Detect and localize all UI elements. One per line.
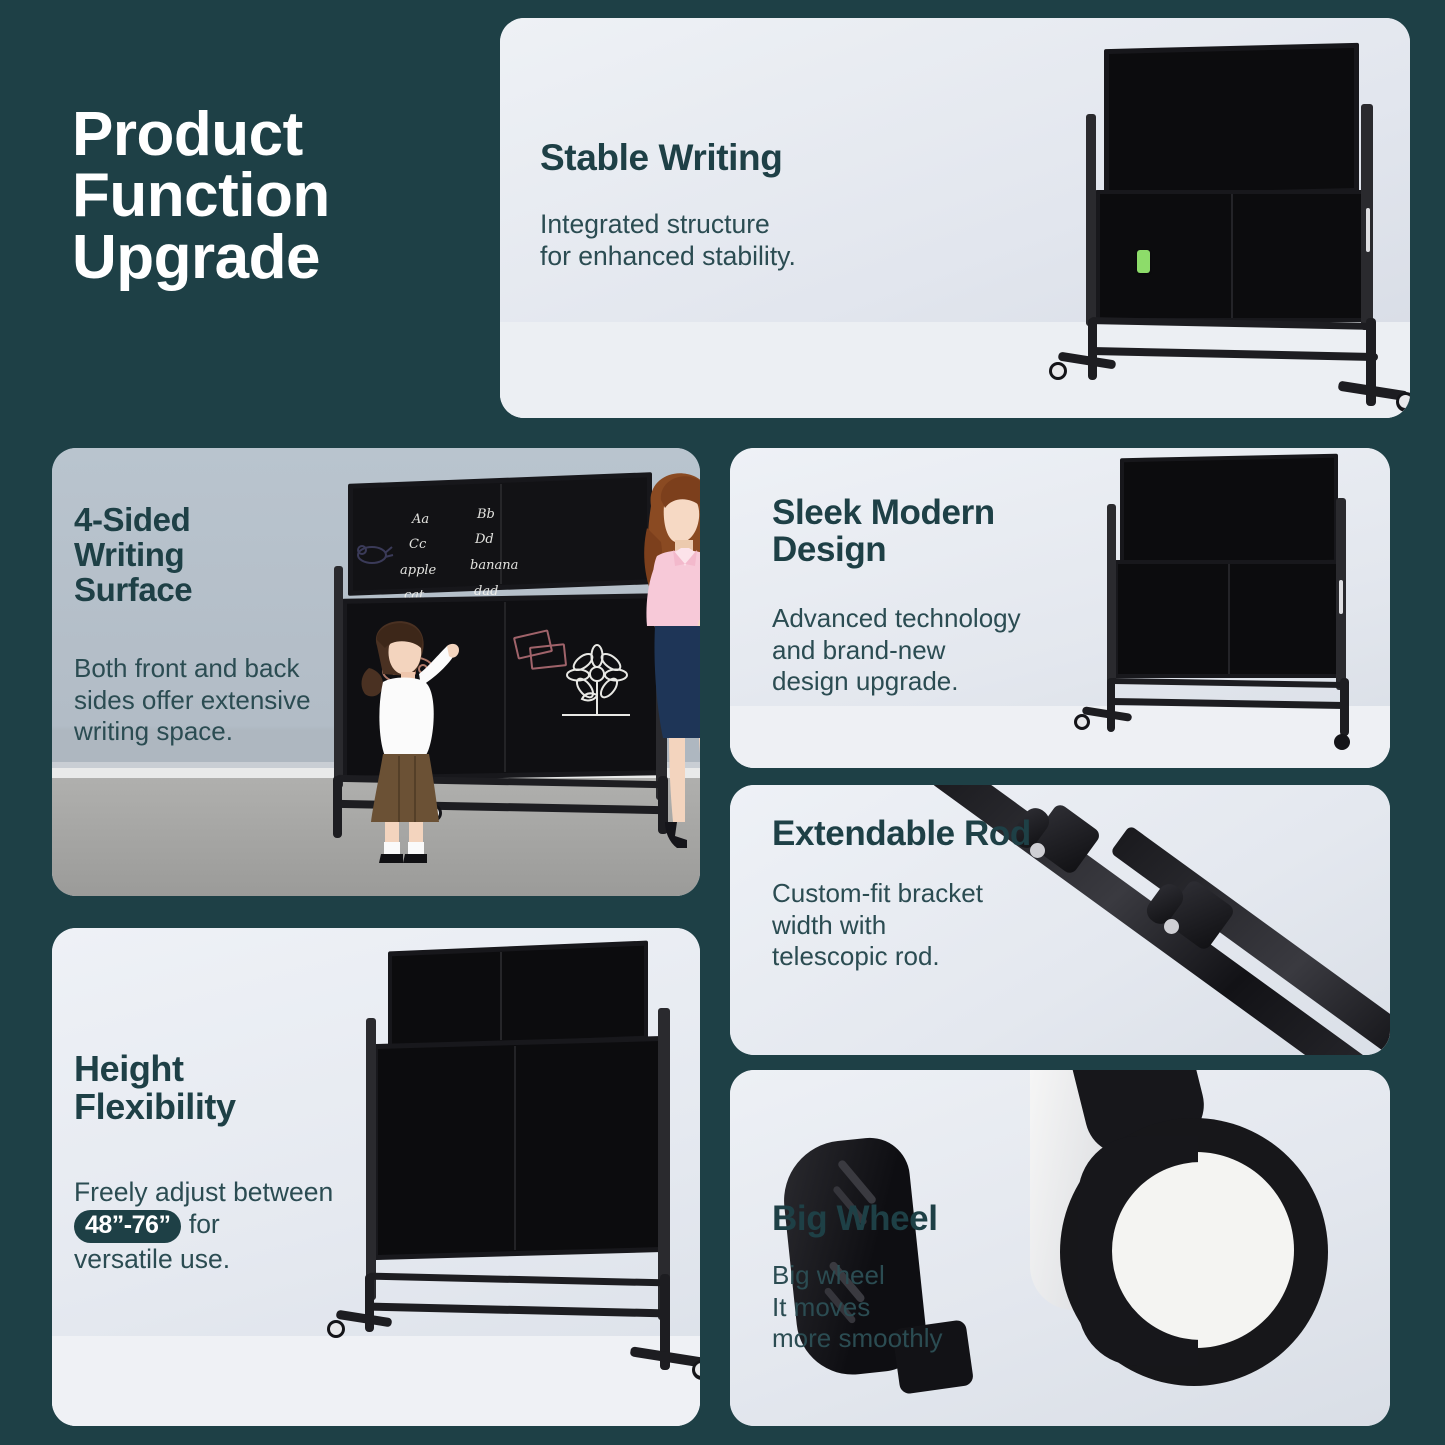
- chalk-text: Dd: [475, 532, 494, 547]
- sleek-body-line-3: design upgrade.: [772, 666, 958, 696]
- chalk-text: apple: [400, 563, 436, 578]
- card-title-big-wheel: Big Wheel: [772, 1200, 938, 1237]
- page-title-line-1: Product: [72, 104, 472, 165]
- height-body-after: for: [189, 1209, 220, 1239]
- rod-body-line-1: Custom-fit bracket: [772, 878, 983, 908]
- feature-card-sleek-design: Sleek Modern Design Advanced technology …: [730, 448, 1390, 768]
- card-body-big-wheel: Big wheel It moves more smoothly: [772, 1260, 1072, 1355]
- rod-body-line-2: width with: [772, 910, 886, 940]
- page-title: Product Function Upgrade: [72, 104, 472, 288]
- rod-body-line-3: telescopic rod.: [772, 941, 940, 971]
- big-wheel-photo: [730, 1070, 1390, 1426]
- sleek-body-line-2: and brand-new: [772, 635, 945, 665]
- card-title-sleek-design: Sleek Modern Design: [772, 494, 1102, 568]
- chalk-text: Aa: [412, 512, 429, 527]
- marker-accent: [1137, 250, 1150, 273]
- chalk-text: Cc: [409, 537, 426, 552]
- chalk-text: banana: [470, 558, 518, 573]
- sleek-title-line-2: Design: [772, 530, 886, 569]
- height-range-badge: 48”-76”: [74, 1210, 181, 1243]
- feature-card-four-sided-surface: Aa Bb Cc Dd apple banana cat dad: [52, 448, 700, 896]
- woman-figure: [617, 470, 700, 870]
- height-title-line-2: Flexibility: [74, 1086, 236, 1127]
- four-sided-body-line-1: Both front and back: [74, 653, 299, 683]
- wheel-body-line-1: Big wheel: [772, 1260, 885, 1290]
- card-body-extendable-rod: Custom-fit bracket width with telescopic…: [772, 878, 1082, 973]
- infographic-root: Product Function Upgrade: [0, 0, 1445, 1445]
- sleek-body-line-1: Advanced technology: [772, 603, 1021, 633]
- page-title-line-3: Upgrade: [72, 227, 472, 288]
- card-title-four-sided-surface: 4-Sided Writing Surface: [74, 503, 324, 608]
- page-title-line-2: Function: [72, 165, 472, 226]
- stable-body-line-1: Integrated structure: [540, 209, 770, 239]
- four-sided-body-line-3: writing space.: [74, 716, 233, 746]
- card-title-stable-writing: Stable Writing: [540, 138, 782, 177]
- feature-card-big-wheel: Big Wheel Big wheel It moves more smooth…: [730, 1070, 1390, 1426]
- card-body-stable-writing: Integrated structure for enhanced stabil…: [540, 208, 960, 273]
- height-body-before: Freely adjust between: [74, 1177, 333, 1207]
- four-sided-title-line-3: Surface: [74, 571, 192, 608]
- four-sided-body-line-2: sides offer extensive: [74, 685, 311, 715]
- card-title-height-flexibility: Height Flexibility: [74, 1050, 334, 1126]
- chalk-text: Bb: [477, 507, 495, 522]
- feature-card-height-flexibility: Height Flexibility Freely adjust between…: [52, 928, 700, 1426]
- feature-card-extendable-rod: Extendable Rod Custom-fit bracket width …: [730, 785, 1390, 1055]
- stable-body-line-2: for enhanced stability.: [540, 241, 796, 271]
- four-sided-title-line-1: 4-Sided: [74, 501, 190, 538]
- card-title-extendable-rod: Extendable Rod: [772, 815, 1031, 852]
- feature-card-stable-writing: Stable Writing Integrated structure for …: [500, 18, 1410, 418]
- four-sided-title-line-2: Writing: [74, 536, 184, 573]
- card-body-sleek-design: Advanced technology and brand-new design…: [772, 603, 1112, 698]
- doodle-animal: [352, 541, 394, 567]
- height-body-last: versatile use.: [74, 1244, 230, 1274]
- wheel-body-line-3: more smoothly: [772, 1323, 943, 1353]
- card-body-four-sided-surface: Both front and back sides offer extensiv…: [74, 653, 374, 748]
- sleek-title-line-1: Sleek Modern: [772, 493, 995, 532]
- card-body-height-flexibility: Freely adjust between 48”-76” for versat…: [74, 1176, 434, 1275]
- wheel-body-line-2: It moves: [772, 1292, 870, 1322]
- height-title-line-1: Height: [74, 1048, 184, 1089]
